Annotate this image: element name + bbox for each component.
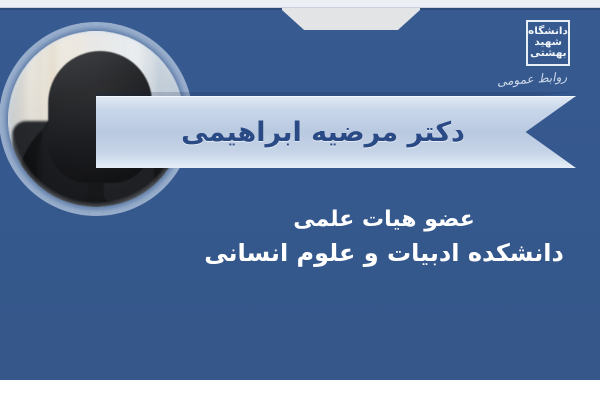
faculty-name: دکتر مرضیه ابراهیمی <box>96 96 576 168</box>
top-center-notch-shape <box>282 8 420 30</box>
banner-canvas: دکتر مرضیه ابراهیمی عضو هیات علمی دانشکد… <box>0 0 600 400</box>
faculty-department: دانشکده ادبیات و علوم انسانی <box>180 236 588 271</box>
bottom-white-strip <box>0 380 600 400</box>
emblem-line-3: بهشتی <box>530 49 566 59</box>
faculty-role: عضو هیات علمی <box>180 204 588 236</box>
blue-background-panel: دکتر مرضیه ابراهیمی عضو هیات علمی دانشکد… <box>0 8 600 380</box>
subtitle-block: عضو هیات علمی دانشکده ادبیات و علوم انسا… <box>180 204 588 271</box>
name-ribbon: دکتر مرضیه ابراهیمی <box>96 96 576 168</box>
university-emblem-icon: دانشگاه شهید بهشتی <box>526 20 570 66</box>
university-logo: دانشگاه شهید بهشتی روابط عمومی <box>478 16 584 96</box>
emblem-line-2: شهید <box>534 38 562 48</box>
public-relations-script: روابط عمومی <box>481 63 583 96</box>
emblem-line-1: دانشگاه <box>528 27 568 37</box>
